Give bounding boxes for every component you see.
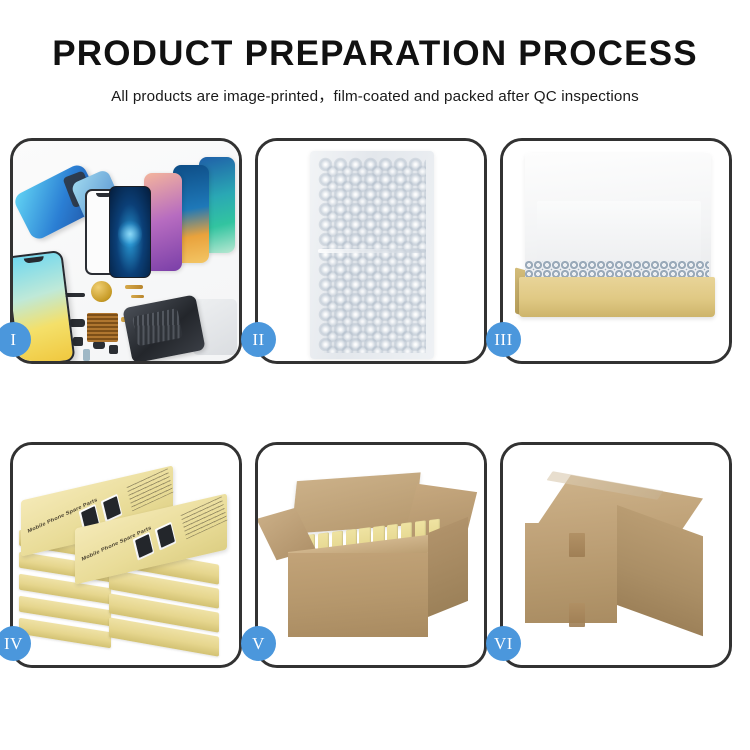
step-1-image xyxy=(13,141,239,361)
sensor-part xyxy=(83,349,90,361)
step-3-image xyxy=(503,141,729,361)
process-step-panel-2: II xyxy=(255,138,487,364)
process-step-panel-6: VI xyxy=(500,442,732,668)
retail-box-stack: Mobile Phone Spare Parts Mobile Phone Sp… xyxy=(17,459,237,659)
sealed-carton-right-side xyxy=(617,505,703,636)
product-preparation-page: PRODUCT PREPARATION PROCESS All products… xyxy=(0,0,750,750)
process-step-panel-4: Mobile Phone Spare Parts Mobile Phone Sp… xyxy=(10,442,242,668)
speaker-part xyxy=(91,281,112,302)
step-4-image: Mobile Phone Spare Parts Mobile Phone Sp… xyxy=(13,445,239,665)
box-spec-lines xyxy=(181,496,228,539)
process-step-panel-1: I xyxy=(10,138,242,364)
box-spec-lines xyxy=(127,468,174,511)
phone-back-housing xyxy=(122,294,205,361)
box-phone-artwork xyxy=(155,522,177,551)
step-badge-2: II xyxy=(241,322,276,357)
vibrator-part xyxy=(73,337,83,346)
page-header: PRODUCT PREPARATION PROCESS All products… xyxy=(0,0,750,106)
pouch-seam xyxy=(318,249,426,253)
step-badge-3: III xyxy=(486,322,521,357)
kraft-box-front xyxy=(519,277,715,317)
battery-connector-part xyxy=(93,341,105,349)
carton-right-side xyxy=(428,517,468,617)
logic-board-part xyxy=(87,313,118,342)
sim-tray-part xyxy=(109,345,118,354)
phone-dark-blue-wallpaper xyxy=(109,186,151,278)
bubble-wrap-pouch xyxy=(310,151,434,359)
process-step-panel-5: V xyxy=(255,442,487,668)
page-subtitle: All products are image-printed，film-coat… xyxy=(0,84,750,106)
packing-tape-tab-lower xyxy=(569,603,585,627)
volume-flex-cable xyxy=(131,295,144,298)
process-step-grid: I II III xyxy=(10,138,740,668)
bubble-texture-overlay xyxy=(325,164,426,353)
step-5-image xyxy=(258,445,484,665)
step-badge-6: VI xyxy=(486,626,521,661)
carton-front-side xyxy=(288,553,428,637)
process-step-panel-3: III xyxy=(500,138,732,364)
step-2-image xyxy=(258,141,484,361)
step-badge-5: V xyxy=(241,626,276,661)
step-6-image xyxy=(503,445,729,665)
packing-tape-tab-upper xyxy=(569,533,585,557)
power-flex-cable xyxy=(125,285,143,289)
page-title: PRODUCT PREPARATION PROCESS xyxy=(0,36,750,73)
